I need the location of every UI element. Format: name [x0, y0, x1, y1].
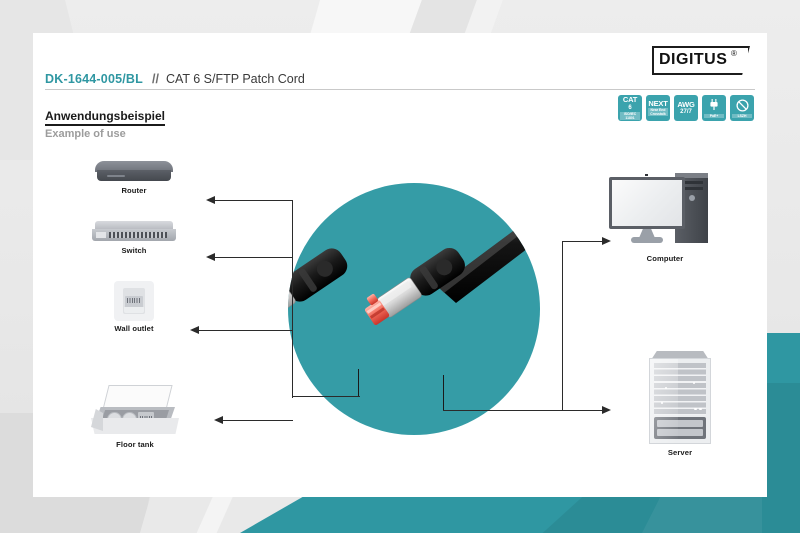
device-label-wall-outlet: Wall outlet	[88, 324, 180, 333]
device-label-switch: Switch	[88, 246, 180, 255]
device-label-router: Router	[88, 186, 180, 195]
computer-power-button	[689, 195, 695, 201]
server-status-led	[694, 408, 697, 410]
switch-icon	[92, 221, 176, 243]
computer-monitor-base	[631, 237, 663, 243]
device-floor-tank: Floor tank	[76, 385, 194, 449]
computer-monitor	[609, 177, 685, 229]
arrow-head-wall-outlet	[190, 326, 199, 334]
arrow-line-switch	[215, 257, 293, 258]
floor-tank-icon	[87, 385, 183, 437]
device-computer: Computer	[605, 173, 725, 263]
computer-icon	[609, 173, 721, 251]
device-wall-outlet: Wall outlet	[88, 281, 180, 333]
switch-front-panel	[96, 232, 106, 238]
router-led-strip	[107, 175, 125, 177]
application-diagram: Router Switch Wall outlet	[33, 33, 767, 497]
plug-leader-left	[358, 369, 359, 397]
device-switch: Switch	[88, 221, 180, 255]
arrow-head-router	[206, 196, 215, 204]
router-icon	[95, 161, 173, 183]
arrow-line-computer	[562, 241, 602, 242]
device-label-server: Server	[625, 448, 735, 457]
wall-outlet-contacts	[127, 298, 141, 303]
server-status-led	[693, 382, 695, 384]
arrow-line-router	[215, 200, 293, 201]
datasheet-card: DIGITUS ® DK-1644-005/BL//CAT 6 S/FTP Pa…	[33, 33, 767, 497]
computer-monitor-led	[645, 174, 648, 176]
device-label-computer: Computer	[605, 254, 725, 263]
arrow-head-server	[602, 406, 611, 414]
server-icon	[649, 351, 711, 445]
computer-screen	[612, 180, 682, 226]
device-label-floor-tank: Floor tank	[76, 440, 194, 449]
server-highlight	[650, 359, 678, 443]
switch-port-array	[109, 232, 167, 238]
server-status-led	[699, 408, 702, 410]
wall-outlet-icon	[114, 281, 154, 321]
right-bus-line	[562, 241, 563, 411]
device-server: Server	[625, 351, 735, 457]
left-bus-to-plug	[292, 396, 360, 397]
arrow-head-switch	[206, 253, 215, 261]
wall-outlet-lip	[124, 307, 144, 313]
arrow-line-wall-outlet	[199, 330, 293, 331]
arrow-line-floor-tank	[223, 420, 293, 421]
arrow-line-server	[562, 410, 602, 411]
arrow-head-floor-tank	[214, 416, 223, 424]
right-plug-to-bus	[443, 410, 563, 411]
plug-leader-right	[443, 375, 444, 411]
device-router: Router	[88, 161, 180, 195]
left-bus-line	[292, 201, 293, 398]
floor-tank-front-wall	[91, 418, 179, 434]
